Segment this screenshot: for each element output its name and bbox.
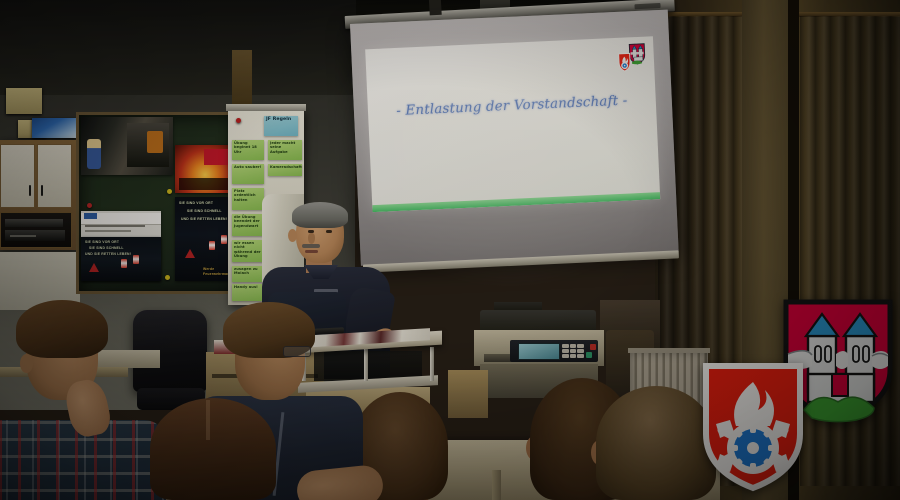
poster-figure <box>87 139 101 169</box>
housing-bracket <box>429 0 442 15</box>
flipchart-note: Übung beginnt 18 Uhr <box>232 140 264 160</box>
projection-screen: - Entlastung der Vorstandschaft - <box>350 10 679 266</box>
flipchart-note-text: die Übung beendet der Jugendwart <box>232 214 264 229</box>
meeting-room-photo: SIE SIND VOR ORT SIE SIND SCHNELL UND SI… <box>0 0 900 500</box>
audience-hair <box>150 398 276 500</box>
storage-cabinet <box>0 140 76 250</box>
wall-upper-shadow <box>0 0 356 95</box>
storage-box-top-a <box>6 88 42 114</box>
hair-parting <box>206 400 210 440</box>
copier-display <box>518 343 560 360</box>
traffic-cone-icon <box>121 259 127 268</box>
poster-night-scene-large: SIE SIND VOR ORT SIE SIND SCHNELL UND SI… <box>175 197 235 281</box>
flipchart-note-text: Übung beginnt 18 Uhr <box>232 140 264 155</box>
flipchart-note-text: jeder macht seine Aufgabe <box>268 140 302 155</box>
flipchart-note-text: Auto sauber! <box>232 164 264 170</box>
cabinet-handle-left[interactable] <box>29 185 31 196</box>
pin-yellow-icon <box>165 275 170 280</box>
presenter-moustache <box>302 244 320 248</box>
audience-hair <box>596 386 716 500</box>
storage-box-blue <box>32 118 76 138</box>
presenter-nose <box>308 233 315 244</box>
copier-keypad[interactable] <box>562 344 584 358</box>
flipchart-note: zusagen zu Molach <box>232 266 264 282</box>
copier-lid[interactable] <box>480 310 596 332</box>
audience-member-plaid-shirt <box>2 302 162 500</box>
poster-night-line-3: UND SIE RETTEN LEBEN! <box>181 217 235 222</box>
pin-yellow-icon <box>167 189 172 194</box>
poster-small-line-3: UND SIE RETTEN LEBEN! <box>85 252 131 257</box>
poster-night-line-1: SIE SIND VOR ORT <box>179 201 233 206</box>
audience-member-long-hair <box>150 398 276 500</box>
presenter-eye <box>326 230 332 233</box>
copier-control-panel[interactable] <box>510 340 598 362</box>
slide-corner-emblem <box>616 42 647 73</box>
flipchart-note-text: Kameradschaft <box>268 164 302 170</box>
flipchart-note-text: Platz ordentlich halten <box>232 188 264 203</box>
flipchart-heading-note: JF Regeln <box>264 116 298 136</box>
presenter-ear <box>288 229 297 242</box>
flipchart-note: Kameradschaft <box>268 164 302 176</box>
pin-red-icon <box>87 203 92 208</box>
cabinet-open-shelf <box>0 212 72 248</box>
copier-stop-button[interactable] <box>590 344 596 350</box>
wall-door-edge <box>232 50 252 112</box>
traffic-cone-icon <box>221 235 227 244</box>
projected-slide: - Entlastung der Vorstandschaft - <box>365 36 660 212</box>
radiator-top <box>628 348 710 353</box>
feuerwehr-emblem <box>700 358 806 494</box>
warning-triangle-icon <box>185 249 195 258</box>
poster-small-line-2: SIE SIND SCHNELL <box>89 246 124 251</box>
traffic-cone-icon <box>209 241 215 250</box>
audience-ear <box>20 354 33 373</box>
audience-member-back-right <box>596 386 716 500</box>
cabinet-door-right[interactable] <box>37 144 72 208</box>
pin-red-icon <box>236 118 241 123</box>
lectern-post <box>364 347 368 381</box>
presenter-hair <box>292 202 348 228</box>
flipchart-heading-text: JF Regeln <box>264 116 298 123</box>
slide-title: - Entlastung der Vorstandschaft - <box>368 92 656 120</box>
lectern-post <box>430 347 434 381</box>
poster-flames <box>175 145 235 193</box>
flipchart-note-text: wir essen nicht während der Übung <box>232 240 264 260</box>
av-device-upper <box>5 219 63 227</box>
presenter-mouth <box>305 250 318 253</box>
poster-small-line-1: SIE SIND VOR ORT <box>85 240 119 245</box>
audience-hair <box>16 300 108 358</box>
av-device-lower <box>5 230 65 241</box>
flipchart-note: Auto sauber! <box>232 164 264 184</box>
eyeglasses-icon <box>283 346 311 357</box>
flipchart-note-text: zusagen zu Molach <box>232 266 264 277</box>
cabinet-door-left[interactable] <box>0 144 35 208</box>
flipchart-note: jeder macht seine Aufgabe <box>268 140 302 160</box>
copier-start-button[interactable] <box>586 352 592 358</box>
housing-label <box>634 3 660 9</box>
traffic-cone-icon <box>133 255 139 264</box>
poster-fire-truck <box>81 117 173 175</box>
flipchart-clamp <box>226 104 306 111</box>
flipchart-note: die Übung beendet der Jugendwart <box>232 214 264 236</box>
flipchart-note-text: Handy aus! <box>232 284 264 290</box>
flipchart-note: Platz ordentlich halten <box>232 188 264 210</box>
poster-kat-header <box>81 213 161 225</box>
notice-board: SIE SIND VOR ORT SIE SIND SCHNELL UND SI… <box>76 112 240 294</box>
table-leg <box>492 470 501 500</box>
flipchart-note: Handy aus! <box>232 284 264 301</box>
poster-night-scene-small: SIE SIND VOR ORT SIE SIND SCHNELL UND SI… <box>81 237 161 281</box>
warning-triangle-icon <box>89 263 99 272</box>
flipchart-note: wir essen nicht während der Übung <box>232 240 264 262</box>
wooden-chair[interactable] <box>448 370 488 418</box>
cabinet-handle-right[interactable] <box>41 185 43 196</box>
